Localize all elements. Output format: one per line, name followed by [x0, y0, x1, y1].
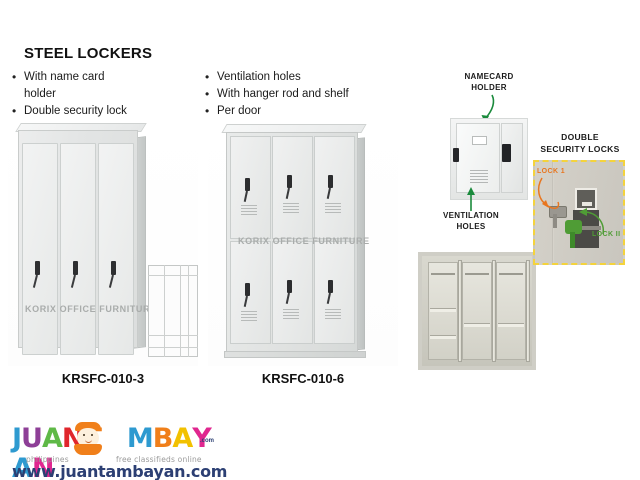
product-caption-1: KRSFC-010-3: [8, 371, 198, 386]
logo-letter: J: [12, 424, 21, 454]
wireframe-divider: [188, 265, 189, 357]
door-lock: [245, 178, 250, 191]
ventilation-holes: [283, 309, 299, 320]
shelf: [464, 323, 490, 327]
namecard-holder: [472, 136, 487, 145]
shelf: [430, 308, 456, 312]
door-lock: [328, 175, 333, 188]
annotation-ventilation-holes: VENTILATION HOLES: [425, 210, 517, 232]
locker-door: [98, 143, 134, 355]
bullet-icon: •: [12, 104, 24, 119]
open-door-edge: [458, 260, 462, 362]
watermark-text: KORIX OFFICE FURNITURE: [238, 236, 370, 246]
ventilation-holes: [470, 170, 488, 182]
wireframe-divider: [180, 265, 181, 357]
hanger-rod: [465, 273, 489, 275]
list-item-label: With name card: [24, 70, 105, 85]
feature-list-right: • Ventilation holes • With hanger rod an…: [205, 70, 400, 121]
mascot-eye-right: [91, 434, 93, 436]
watermark-text: KORIX OFFICE FURNITURE: [25, 304, 157, 314]
annotation-line-1: VENTILATION: [425, 210, 517, 221]
logo-letter: A: [172, 424, 192, 454]
logo-dotcom: .com: [200, 438, 214, 444]
ventilation-holes: [325, 203, 341, 214]
feature-list-left: • With name card holder • Double securit…: [12, 70, 187, 121]
list-item: • Double security lock: [12, 104, 187, 119]
bullet-icon: •: [205, 70, 217, 85]
locker-door: [230, 136, 271, 239]
juan-mascot-icon: [73, 422, 103, 454]
list-item: • Ventilation holes: [205, 70, 400, 85]
mascot-body: [74, 444, 102, 455]
product-image-krsfc-010-6: KORIX OFFICE FURNITURE: [208, 120, 398, 366]
shelf: [430, 335, 456, 339]
annotation-line-2: HOLDER: [443, 82, 535, 93]
door-lock: [287, 280, 292, 293]
wireframe-shelf: [148, 275, 198, 276]
security-locks-title-line-2: SECURITY LOCKS: [525, 143, 635, 155]
list-item-label: holder: [24, 87, 56, 102]
annotation-namecard-holder: NAMECARD HOLDER: [443, 71, 535, 93]
locker-compartment: [462, 262, 492, 360]
wireframe-shelf: [148, 335, 198, 336]
door-lock: [245, 283, 250, 296]
lock-2-label: LOCK II: [592, 231, 620, 238]
door-lock: [287, 175, 292, 188]
locker-door: [272, 136, 313, 239]
bullet-icon: •: [12, 70, 24, 85]
list-item-label: Per door: [217, 104, 261, 119]
ventilation-holes: [241, 311, 257, 322]
annotation-line-2: HOLES: [425, 221, 517, 232]
ventilation-holes: [241, 205, 257, 216]
ventilation-holes: [325, 309, 341, 320]
slide-canvas: STEEL LOCKERS • With name card holder • …: [0, 0, 640, 480]
open-lockers-photo: [418, 252, 536, 370]
wireframe-outline: [148, 265, 198, 357]
locker-compartment: [496, 262, 526, 360]
locker-door: [60, 143, 96, 355]
open-door-edge: [526, 260, 530, 362]
lock-1-label: LOCK 1: [537, 168, 565, 175]
locker-door: [230, 241, 271, 344]
locker-door: [314, 136, 355, 239]
list-item: • With name card: [12, 70, 187, 85]
security-locks-title: DOUBLE SECURITY LOCKS: [525, 131, 635, 155]
open-door-edge: [492, 260, 496, 362]
door-handle: [35, 261, 40, 275]
wireframe-shelf: [148, 347, 198, 348]
bullet-icon: •: [205, 104, 217, 119]
mascot-eye-left: [83, 434, 85, 436]
juantambayan-logo[interactable]: JUANTMBAYAN .com philippines free classi…: [12, 424, 212, 474]
locker-cabinet-body: [422, 256, 532, 366]
logo-letter: B: [153, 424, 173, 454]
bullet-icon: •: [205, 87, 217, 102]
locker-door: [314, 241, 355, 344]
locker-door: [272, 241, 313, 344]
hanger-rod: [499, 273, 523, 275]
page-title: STEEL LOCKERS: [24, 45, 152, 62]
ventilation-holes: [283, 203, 299, 214]
list-item-continuation: holder: [12, 87, 187, 102]
product-caption-2: KRSFC-010-6: [208, 371, 398, 386]
list-item: • Per door: [205, 104, 400, 119]
logo-letter: M: [127, 424, 153, 454]
locker-door: [22, 143, 58, 355]
locker-wireframe-diagram: [148, 265, 198, 357]
logo-letter: U: [21, 424, 42, 454]
door-handle: [73, 261, 78, 275]
door-lock: [453, 148, 459, 162]
locker-cabinet-body: KORIX OFFICE FURNITURE: [18, 130, 138, 348]
door-handle: [111, 261, 116, 275]
list-item: • With hanger rod and shelf: [205, 87, 400, 102]
lock-1-arrow-icon: [536, 176, 566, 218]
shelf: [498, 323, 524, 327]
locker-cabinet-body: KORIX OFFICE FURNITURE: [226, 132, 358, 352]
locker-compartment: [428, 262, 458, 360]
list-item-label: With hanger rod and shelf: [217, 87, 349, 102]
logo-letter: A: [42, 424, 62, 454]
hanger-rod: [431, 273, 455, 275]
product-image-krsfc-010-3: KORIX OFFICE FURNITURE: [8, 120, 198, 366]
annotation-line-1: NAMECARD: [443, 71, 535, 82]
ventilation-arrow-icon: [460, 186, 482, 212]
locker-base-panel: [224, 351, 366, 358]
list-item-label: Ventilation holes: [217, 70, 301, 85]
website-url[interactable]: www.juantambayan.com: [12, 462, 227, 480]
door-lock: [502, 144, 511, 162]
list-item-label: Double security lock: [24, 104, 127, 119]
security-locks-title-line-1: DOUBLE: [525, 131, 635, 143]
wireframe-divider: [164, 265, 165, 357]
door-lock: [328, 280, 333, 293]
